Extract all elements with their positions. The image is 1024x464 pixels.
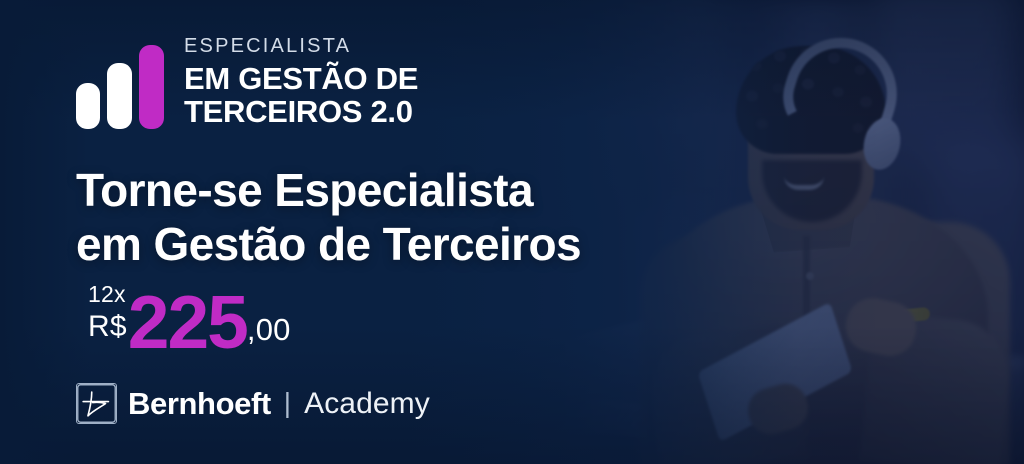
- bar-chart-logo-icon: [76, 45, 164, 129]
- currency-label: R$: [88, 310, 127, 344]
- logo-bar-tall-accent: [139, 45, 164, 129]
- headline-line1: Torne-se Especialista: [76, 163, 581, 217]
- course-title-line1: EM GESTÃO DE: [184, 62, 418, 95]
- price-cents: ,00: [247, 314, 291, 354]
- course-title-line2: TERCEIROS 2.0: [184, 95, 418, 128]
- brand-separator: |: [282, 387, 293, 421]
- price-prefix: 12x R$: [88, 283, 127, 354]
- brand-sub: Academy: [304, 387, 430, 421]
- banner-content: ESPECIALISTA EM GESTÃO DE TERCEIROS 2.0 …: [0, 0, 1024, 464]
- installments-label: 12x: [88, 283, 126, 306]
- course-logo-text: ESPECIALISTA EM GESTÃO DE TERCEIROS 2.0: [184, 36, 418, 129]
- course-kicker: ESPECIALISTA: [184, 36, 418, 56]
- headline-line2: em Gestão de Terceiros: [76, 217, 581, 271]
- price-block: 12x R$ 225 ,00: [88, 283, 291, 354]
- promo-banner: ESPECIALISTA EM GESTÃO DE TERCEIROS 2.0 …: [0, 0, 1024, 464]
- brand-lockup: Bernhoeft | Academy: [76, 383, 430, 424]
- headline: Torne-se Especialista em Gestão de Terce…: [76, 163, 581, 272]
- price-amount: 225: [128, 291, 247, 354]
- logo-bar-short: [76, 83, 100, 129]
- bernhoeft-b-mark-icon: [76, 383, 117, 424]
- course-logo-lockup: ESPECIALISTA EM GESTÃO DE TERCEIROS 2.0: [76, 36, 418, 129]
- logo-bar-medium: [107, 63, 132, 129]
- brand-name: Bernhoeft: [128, 386, 271, 422]
